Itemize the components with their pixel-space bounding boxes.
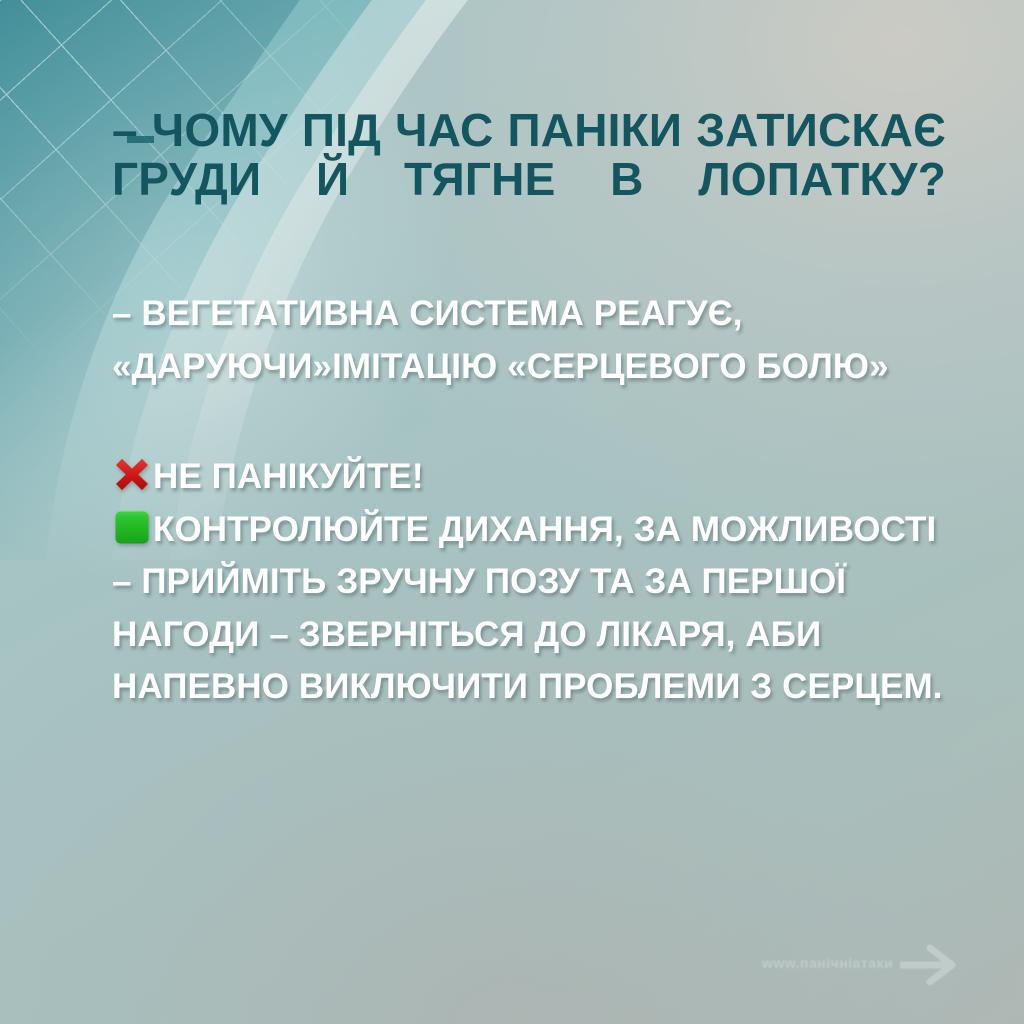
- advice-text-dont-panic: НЕ ПАНІКУЙТЕ!: [153, 457, 424, 496]
- page-title: – ЧОМУ ПІД ЧАС ПАНІКИ ЗАТИСКАЄ ГРУДИ Й Т…: [112, 106, 946, 252]
- cross-mark-emoji: [112, 454, 152, 494]
- advice-line-dont-panic: НЕ ПАНІКУЙТЕ!: [112, 451, 946, 504]
- slide-body: – ВЕГЕТАТИВНА СИСТЕМА РЕАГУЄ, «ДАРУЮЧИ»І…: [112, 288, 946, 714]
- paragraph-spacer: [112, 393, 946, 451]
- slide-content: – ЧОМУ ПІД ЧАС ПАНІКИ ЗАТИСКАЄ ГРУДИ Й Т…: [0, 0, 1024, 714]
- advice-line-control-breathing: КОНТРОЛЮЙТЕ ДИХАННЯ, ЗА МОЖЛИВОСТІ – ПРИ…: [112, 504, 946, 714]
- answer-paragraph: – ВЕГЕТАТИВНА СИСТЕМА РЕАГУЄ, «ДАРУЮЧИ»І…: [112, 288, 946, 393]
- green-square-emoji: [112, 507, 152, 547]
- slide-canvas: – ЧОМУ ПІД ЧАС ПАНІКИ ЗАТИСКАЄ ГРУДИ Й Т…: [0, 0, 1024, 1024]
- advice-text-control-breathing: КОНТРОЛЮЙТЕ ДИХАННЯ, ЗА МОЖЛИВОСТІ – ПРИ…: [112, 510, 943, 707]
